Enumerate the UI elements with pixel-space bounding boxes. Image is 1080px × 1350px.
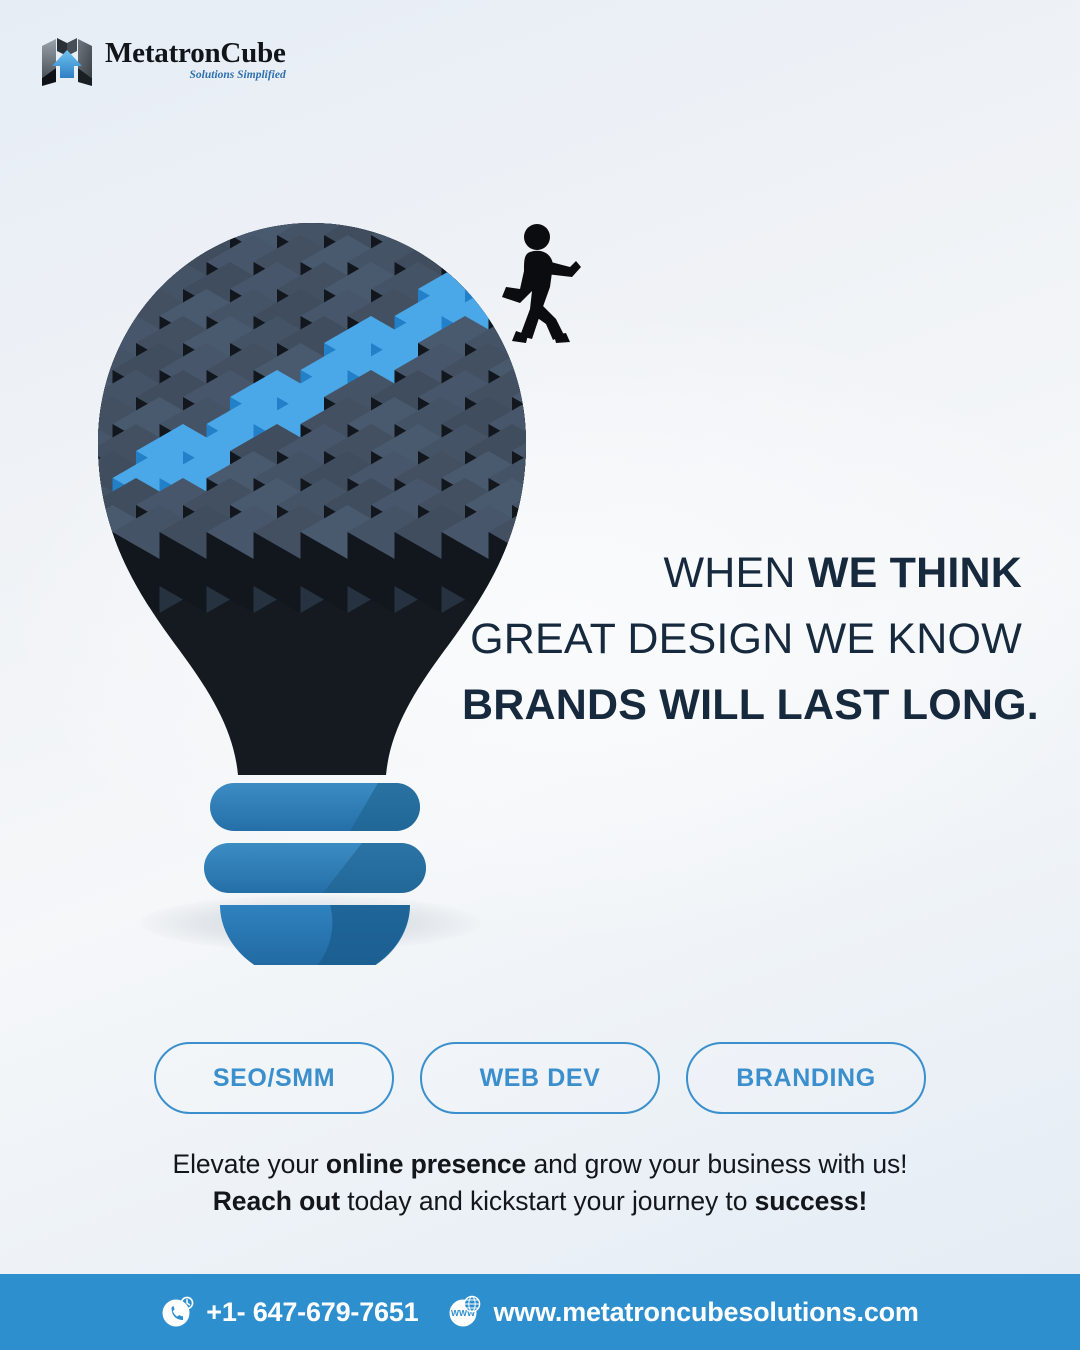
www-globe-icon: WWW [448,1295,482,1329]
service-pill-web-dev[interactable]: WEB DEV [420,1042,660,1114]
brand-logo[interactable]: MetatronCube Solutions Simplified [40,34,286,86]
bulb-base [204,783,426,965]
headline-line1-bold: WE THINK [808,549,1022,597]
tagline-l1-b: online presence [326,1149,526,1179]
service-pill-branding[interactable]: BRANDING [686,1042,926,1114]
service-pill-group: SEO/SMM WEB DEV BRANDING [0,1042,1080,1114]
phone-number: +1- 647-679-7651 [206,1297,418,1328]
headline-line-1: WHEN WE THINK [462,552,1022,595]
service-pill-seo-smm[interactable]: SEO/SMM [154,1042,394,1114]
tagline-l2-a: Reach out [213,1186,340,1216]
headline-line1-regular: WHEN [663,549,807,597]
tagline: Elevate your online presence and grow yo… [0,1146,1080,1219]
running-person-silhouette-icon [480,219,590,344]
headline-line-2: GREAT DESIGN WE KNOW [462,618,1022,661]
contact-website[interactable]: WWW www.metatroncubesolutions.com [448,1295,918,1329]
tagline-l2-c: success! [755,1186,868,1216]
headline: WHEN WE THINK GREAT DESIGN WE KNOW BRAND… [462,552,1022,727]
tagline-line-1: Elevate your online presence and grow yo… [0,1146,1080,1183]
phone-circle-icon [161,1295,195,1329]
tagline-l1-c: and grow your business with us! [526,1149,907,1179]
headline-line-3: BRANDS WILL LAST LONG. [462,684,1022,727]
poster-canvas: MetatronCube Solutions Simplified [0,0,1080,1350]
website-url: www.metatroncubesolutions.com [493,1297,918,1328]
tagline-l1-a: Elevate your [173,1149,326,1179]
cube-arrow-up-icon [40,34,94,86]
logo-wordmark: MetatronCube [105,39,286,68]
tagline-line-2: Reach out today and kickstart your journ… [0,1183,1080,1220]
footer-contact-bar: +1- 647-679-7651 WWW www.metatroncubesol… [0,1274,1080,1350]
logo-tagline: Solutions Simplified [105,70,286,82]
tagline-l2-b: today and kickstart your journey to [340,1186,755,1216]
contact-phone[interactable]: +1- 647-679-7651 [161,1295,418,1329]
logo-text-block: MetatronCube Solutions Simplified [105,39,286,82]
